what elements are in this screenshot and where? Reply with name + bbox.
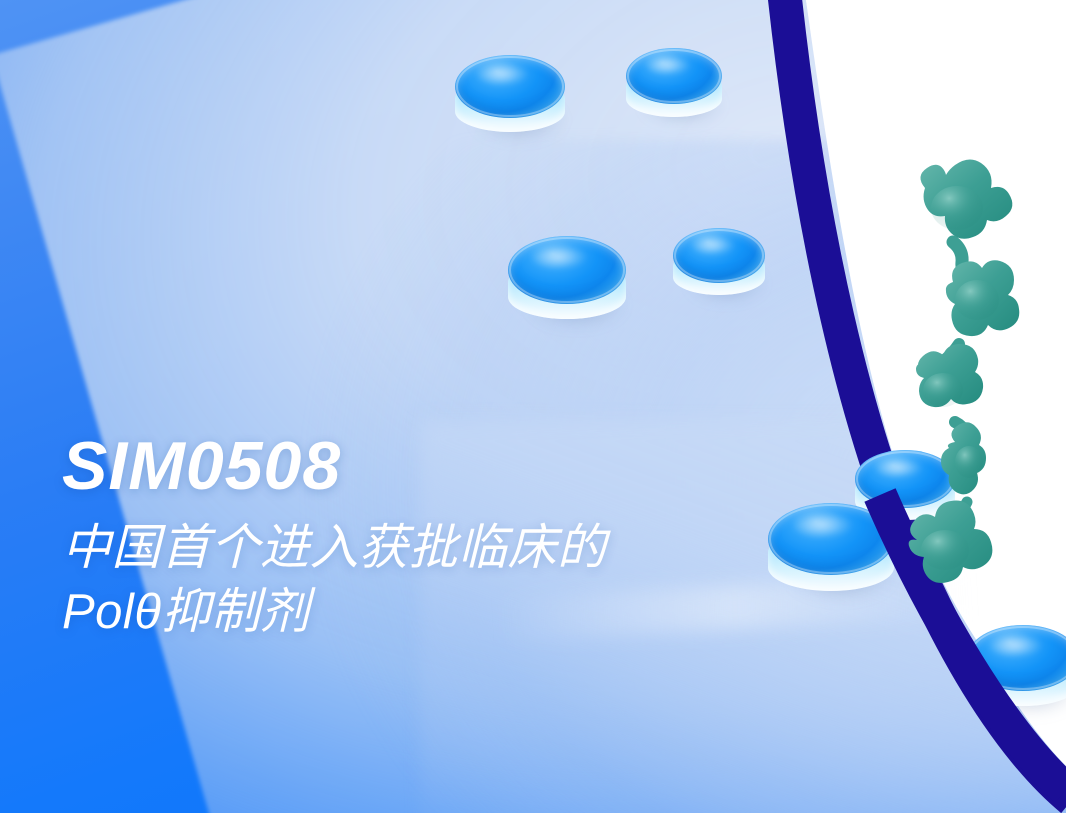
tablet-4 xyxy=(673,228,765,304)
page-subtitle: 中国首个进入获批临床的 Polθ抑制剂 xyxy=(62,517,882,644)
subtitle-line-2: Polθ抑制剂 xyxy=(62,581,882,645)
tablet-gloss xyxy=(980,630,1049,661)
headline-block: SIM0508 中国首个进入获批临床的 Polθ抑制剂 xyxy=(62,432,882,645)
tablet-2 xyxy=(626,48,722,126)
tablet-gloss xyxy=(684,232,741,258)
tablet-gloss xyxy=(522,241,595,273)
tablet-7 xyxy=(967,625,1066,717)
page-title: SIM0508 xyxy=(62,432,882,501)
tablet-1 xyxy=(455,55,565,143)
tablet-3 xyxy=(508,236,626,330)
poster-canvas: SIM0508 中国首个进入获批临床的 Polθ抑制剂 xyxy=(0,0,1066,813)
subtitle-line-1: 中国首个进入获批临床的 xyxy=(62,517,882,581)
polymerase-theta-protein-ribbon-icon xyxy=(895,150,1066,580)
